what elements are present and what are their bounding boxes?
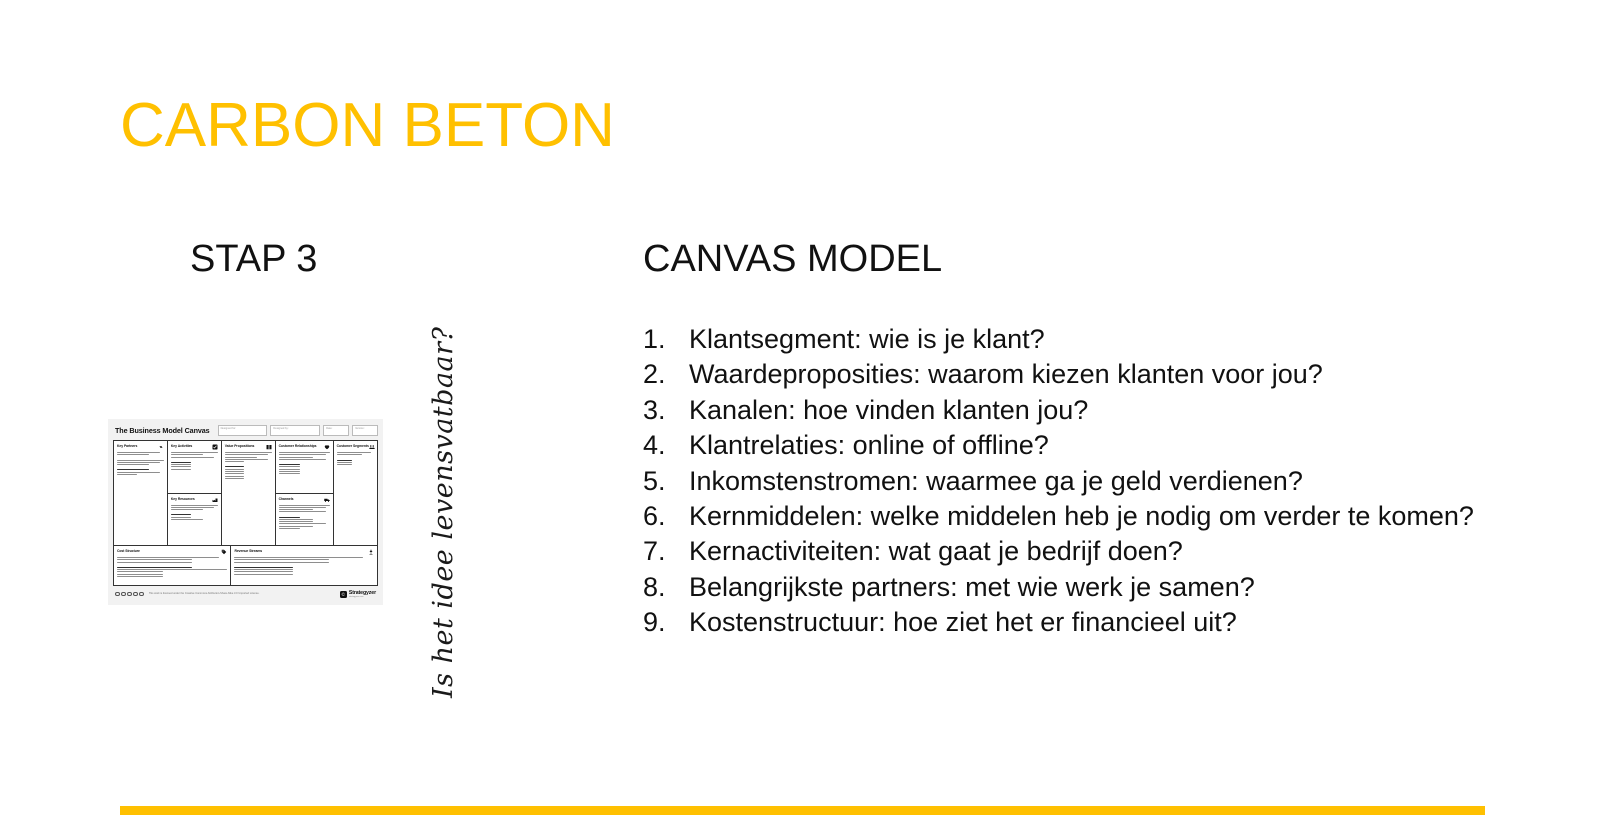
bmc-block-body: [279, 452, 330, 474]
list-item-label: Kanalen: hoe vinden klanten jou?: [689, 393, 1088, 428]
page-title: CARBON BETON: [120, 92, 615, 160]
bmc-block-key-activities: Key Activities: [168, 441, 221, 494]
canvas-model-heading: CANVAS MODEL: [643, 238, 942, 281]
heart-icon: [324, 444, 330, 450]
checkmark-square-icon: [212, 444, 218, 450]
bmc-meta-date: Date:: [323, 425, 349, 436]
bmc-lower-row: Cost Structure: [114, 546, 377, 585]
list-item-number: 5.: [643, 464, 689, 499]
bmc-block-title: Channels: [279, 497, 294, 501]
list-item-number: 4.: [643, 428, 689, 463]
list-item-number: 6.: [643, 499, 689, 534]
bmc-block-body: [279, 505, 330, 529]
list-item-label: Klantsegment: wie is je klant?: [689, 322, 1045, 357]
list-item: 1. Klantsegment: wie is je klant?: [643, 322, 1543, 357]
bmc-meta-designed-for: Designed for:: [218, 425, 268, 436]
bmc-block-title: Customer Segments: [337, 444, 369, 448]
bmc-block-title: Revenue Streams: [234, 549, 262, 553]
bmc-block-body: [337, 452, 374, 465]
truck-icon: [324, 497, 330, 503]
bmc-block-body: [171, 505, 218, 520]
bmc-column-key-partners: Key Partners: [114, 441, 168, 545]
list-item: 7. Kernactiviteiten: wat gaat je bedrijf…: [643, 534, 1543, 569]
list-item-label: Klantrelaties: online of offline?: [689, 428, 1049, 463]
canvas-model-list: 1. Klantsegment: wie is je klant? 2. Waa…: [643, 322, 1543, 641]
list-item-number: 2.: [643, 357, 689, 392]
bmc-meta-fields: Designed for: Designed by: Date: Version…: [218, 425, 378, 436]
strategyzer-mark: ©: [340, 591, 347, 598]
bmc-block-title: Cost Structure: [117, 549, 140, 553]
list-item: 8. Belangrijkste partners: met wie werk …: [643, 570, 1543, 605]
bmc-column-customer-segments: Customer Segments: [334, 441, 377, 545]
list-item-label: Belangrijkste partners: met wie werk je …: [689, 570, 1255, 605]
bmc-block-body: [117, 452, 164, 475]
bmc-block-title: Value Propositions: [225, 444, 255, 448]
gift-box-icon: [266, 444, 272, 450]
list-item-label: Inkomstenstromen: waarmee ga je geld ver…: [689, 464, 1303, 499]
list-item: 3. Kanalen: hoe vinden klanten jou?: [643, 393, 1543, 428]
bmc-upper-row: Key Partners: [114, 441, 377, 546]
bmc-column-revenue-streams: Revenue Streams: [231, 546, 377, 585]
price-tag-icon: [221, 549, 227, 555]
bmc-meta-version: Version:: [352, 425, 378, 436]
handwritten-note: Is het idee levensvatbaar?: [428, 326, 459, 698]
bmc-footer: This work is licensed under the Creative…: [113, 588, 378, 600]
bmc-block-title: Customer Relationships: [279, 444, 317, 448]
list-item-number: 7.: [643, 534, 689, 569]
business-model-canvas-image: The Business Model Canvas Designed for: …: [108, 419, 383, 605]
bmc-header: The Business Model Canvas Designed for: …: [113, 423, 378, 437]
bmc-block-body: [171, 452, 218, 470]
people-icon: [369, 444, 375, 450]
bmc-block-customer-relationships: Customer Relationships: [276, 441, 333, 494]
list-item-label: Waardeproposities: waarom kiezen klanten…: [689, 357, 1323, 392]
bmc-block-title: Key Activities: [171, 444, 192, 448]
bmc-block-title: Key Resources: [171, 497, 195, 501]
scale-icon: [368, 549, 374, 555]
list-item-number: 3.: [643, 393, 689, 428]
list-item-number: 9.: [643, 605, 689, 640]
bmc-column-value-propositions: Value Propositions: [222, 441, 276, 545]
bmc-meta-designed-by: Designed by:: [270, 425, 320, 436]
bmc-grid: Key Partners: [113, 440, 378, 586]
list-item: 5. Inkomstenstromen: waarmee ga je geld …: [643, 464, 1543, 499]
chain-link-icon: [158, 444, 164, 450]
bmc-block-cost-structure: Cost Structure: [114, 546, 230, 585]
strategyzer-name: Strategyzer: [349, 590, 376, 596]
bmc-column-relationships-channels: Customer Relationships: [276, 441, 334, 545]
bmc-block-body: [117, 557, 227, 577]
bmc-title: The Business Model Canvas: [113, 426, 210, 435]
bmc-block-title: Key Partners: [117, 444, 137, 448]
bmc-block-channels: Channels: [276, 494, 333, 546]
factory-icon: [212, 497, 218, 503]
list-item: 6. Kernmiddelen: welke middelen heb je n…: [643, 499, 1543, 534]
bmc-license-text: This work is licensed under the Creative…: [149, 592, 340, 595]
list-item: 9. Kostenstructuur: hoe ziet het er fina…: [643, 605, 1543, 640]
list-item-label: Kernmiddelen: welke middelen heb je nodi…: [689, 499, 1474, 534]
list-item-number: 1.: [643, 322, 689, 357]
strategyzer-url: strategyzer.com: [349, 596, 376, 598]
list-item: 2. Waardeproposities: waarom kiezen klan…: [643, 357, 1543, 392]
bmc-block-body: [225, 452, 272, 479]
creative-commons-icon: [115, 592, 144, 597]
list-item-label: Kernactiviteiten: wat gaat je bedrijf do…: [689, 534, 1183, 569]
bmc-column-cost-structure: Cost Structure: [114, 546, 231, 585]
list-item-label: Kostenstructuur: hoe ziet het er financi…: [689, 605, 1237, 640]
bmc-block-customer-segments: Customer Segments: [334, 441, 377, 545]
list-item: 4. Klantrelaties: online of offline?: [643, 428, 1543, 463]
step-heading: STAP 3: [190, 238, 317, 281]
bmc-block-key-resources: Key Resources: [168, 494, 221, 546]
bmc-block-value-propositions: Value Propositions: [222, 441, 275, 545]
bottom-accent-bar: [120, 806, 1485, 815]
strategyzer-logo: © Strategyzer strategyzer.com: [340, 590, 376, 598]
bmc-column-key-activities-resources: Key Activities: [168, 441, 222, 545]
bmc-block-body: [234, 557, 374, 575]
list-item-number: 8.: [643, 570, 689, 605]
bmc-block-revenue-streams: Revenue Streams: [231, 546, 377, 585]
bmc-block-key-partners: Key Partners: [114, 441, 167, 545]
